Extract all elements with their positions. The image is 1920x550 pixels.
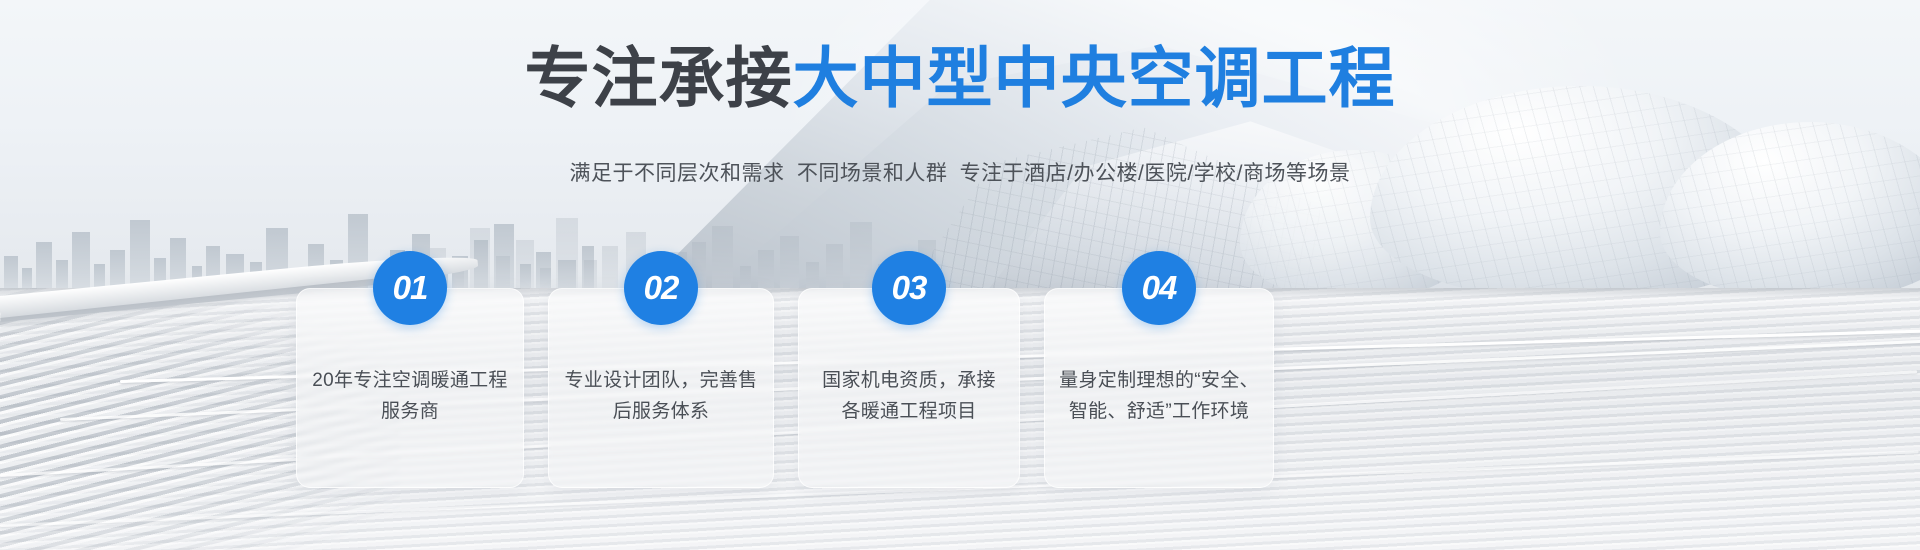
hero-banner: 专注承接大中型中央空调工程 满足于不同层次和需求 不同场景和人群 专注于酒店/办… [0,0,1920,550]
subheadline-part-2: 不同场景和人群 [797,162,948,185]
headline-dark-text: 专注承接 [525,41,793,115]
feature-card-04-number: 04 [1142,269,1177,307]
feature-card-01-badge: 01 [373,251,447,325]
feature-card-03[interactable]: 03 国家机电资质，承接各暖通工程项目 [798,288,1020,488]
feature-card-04-text: 量身定制理想的“安全、智能、舒适”工作环境 [1059,365,1259,427]
feature-card-01[interactable]: 01 20年专注空调暖通工程服务商 [296,288,524,488]
feature-card-01-number: 01 [393,269,428,307]
feature-card-02-text: 专业设计团队，完善售后服务体系 [563,365,759,427]
feature-card-03-number: 03 [892,269,927,307]
feature-card-list: 01 20年专注空调暖通工程服务商 02 专业设计团队，完善售后服务体系 03 … [296,228,1544,438]
subheadline-part-1: 满足于不同层次和需求 [569,162,784,185]
feature-card-04-badge: 04 [1122,251,1196,325]
feature-card-03-badge: 03 [872,251,946,325]
subheadline: 满足于不同层次和需求 不同场景和人群 专注于酒店/办公楼/医院/学校/商场等场景 [0,160,1920,188]
feature-card-02[interactable]: 02 专业设计团队，完善售后服务体系 [548,288,774,488]
feature-card-01-text: 20年专注空调暖通工程服务商 [311,365,509,427]
feature-card-02-badge: 02 [624,251,698,325]
headline-blue-text: 大中型中央空调工程 [793,41,1396,115]
feature-card-04[interactable]: 04 量身定制理想的“安全、智能、舒适”工作环境 [1044,288,1274,488]
feature-card-02-number: 02 [644,269,679,307]
subheadline-part-3: 专注于酒店/办公楼/医院/学校/商场等场景 [960,162,1351,185]
headline: 专注承接大中型中央空调工程 [0,42,1920,114]
feature-card-03-text: 国家机电资质，承接各暖通工程项目 [813,365,1005,427]
